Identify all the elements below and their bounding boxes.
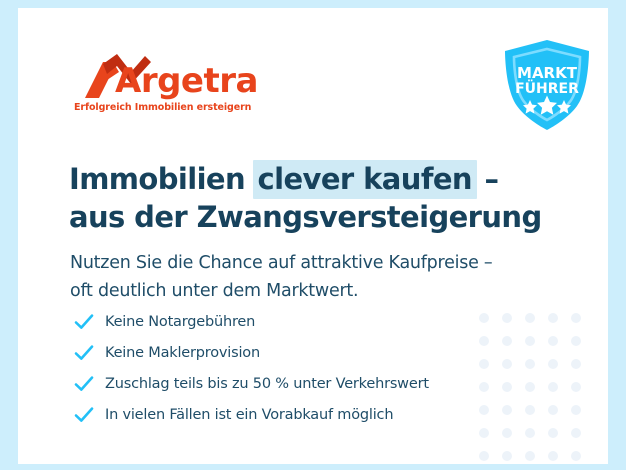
list-item-label: Keine Notargebühren <box>105 314 255 330</box>
decoration-dot <box>479 451 489 461</box>
logo-wordmark: Argetra <box>115 64 258 98</box>
promo-banner: Argetra Erfolgreich Immobilien ersteiger… <box>0 0 626 470</box>
decoration-dot <box>548 336 558 346</box>
headline-line-1-suffix: – <box>475 162 498 196</box>
check-icon <box>73 311 95 333</box>
decoration-dot <box>548 313 558 323</box>
markt-fuehrer-badge: MARKT FÜHRER <box>499 38 595 132</box>
page-title: Immobilien clever kaufen – aus der Zwang… <box>69 160 539 236</box>
headline-highlight: clever kaufen <box>253 160 477 199</box>
headline-line-1: Immobilien clever kaufen – <box>69 160 539 198</box>
decoration-dot <box>548 451 558 461</box>
list-item-label: Zuschlag teils bis zu 50 % unter Verkehr… <box>105 376 429 392</box>
headline-line-1-prefix: Immobilien <box>69 162 255 196</box>
decoration-dot <box>548 359 558 369</box>
decoration-dot <box>525 451 535 461</box>
check-icon <box>73 342 95 364</box>
argetra-logo[interactable]: Argetra Erfolgreich Immobilien ersteiger… <box>73 52 253 114</box>
headline-line-2: aus der Zwangsversteigerung <box>69 198 539 236</box>
decoration-dot <box>548 382 558 392</box>
check-icon <box>73 404 95 426</box>
banner-card: Argetra Erfolgreich Immobilien ersteiger… <box>18 8 608 464</box>
decoration-dot <box>548 428 558 438</box>
feature-list: Keine NotargebührenKeine Maklerprovision… <box>73 306 533 430</box>
badge-line-2: FÜHRER <box>515 79 579 97</box>
decoration-dot <box>571 451 581 461</box>
list-item: Keine Notargebühren <box>73 306 533 337</box>
subtitle-line-1: Nutzen Sie die Chance auf attraktive Kau… <box>70 249 540 277</box>
list-item: Keine Maklerprovision <box>73 337 533 368</box>
decoration-dot <box>571 405 581 415</box>
decoration-dot <box>571 313 581 323</box>
decoration-dot <box>571 428 581 438</box>
badge-line-1: MARKT <box>517 64 578 82</box>
subtitle-line-2: oft deutlich unter dem Marktwert. <box>70 277 540 305</box>
decoration-dot <box>571 359 581 369</box>
logo-tagline: Erfolgreich Immobilien ersteigern <box>74 102 251 113</box>
decoration-dot <box>548 405 558 415</box>
list-item: Zuschlag teils bis zu 50 % unter Verkehr… <box>73 368 533 399</box>
list-item-label: In vielen Fällen ist ein Vorabkauf mögli… <box>105 407 393 423</box>
decoration-dot <box>502 451 512 461</box>
decoration-dot <box>571 382 581 392</box>
subtitle: Nutzen Sie die Chance auf attraktive Kau… <box>70 249 540 305</box>
decoration-dot <box>571 336 581 346</box>
list-item-label: Keine Maklerprovision <box>105 345 260 361</box>
list-item: In vielen Fällen ist ein Vorabkauf mögli… <box>73 399 533 430</box>
check-icon <box>73 373 95 395</box>
